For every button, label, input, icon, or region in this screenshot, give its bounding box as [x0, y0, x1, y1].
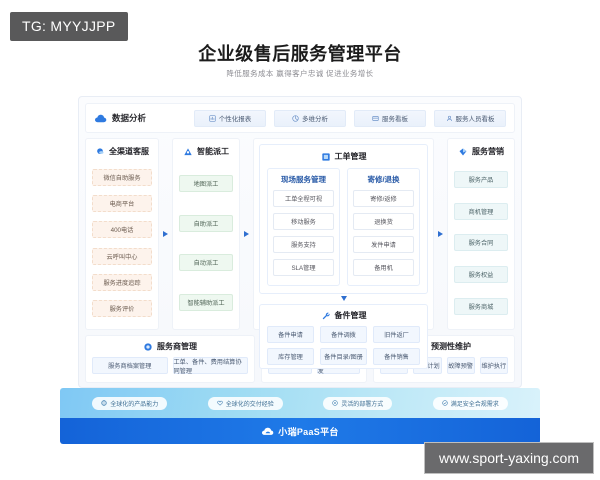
work-order-panel: 工单管理 现场服务管理 工单全程可视 移动服务 服务支持 SLA管理 寄修/退换 — [259, 144, 428, 294]
list-item[interactable]: 退换货 — [353, 213, 414, 230]
page-title: 企业级售后服务管理平台 — [0, 40, 600, 66]
column-items: 地图派工 自助派工 自动派工 智能辅助派工 — [179, 164, 233, 322]
capability-chip-label: 满足安全合规需求 — [451, 399, 499, 408]
list-item[interactable]: 服务进度追踪 — [92, 274, 152, 291]
column-work-order: 工单管理 现场服务管理 工单全程可视 移动服务 服务支持 SLA管理 寄修/退换 — [253, 138, 434, 330]
analytics-item-multidim[interactable]: 多维分析 — [274, 110, 346, 127]
board-icon — [372, 115, 379, 122]
analytics-item-label: 服务人员看板 — [456, 113, 495, 123]
flow-arrow-1 — [159, 138, 172, 330]
capability-chip-label: 全球化的产品能力 — [110, 399, 158, 408]
capability-chip-global-delivery[interactable]: 全球化的交付经验 — [208, 397, 283, 410]
list-item[interactable]: SLA管理 — [273, 259, 334, 276]
list-item[interactable]: 旧件返厂 — [373, 326, 420, 343]
headset-icon — [95, 147, 105, 157]
cloud-icon — [94, 113, 107, 124]
column-omni-channel: 全渠道客服 微信自助服务 电商平台 400电话 云呼叫中心 服务进度追踪 服务评… — [85, 138, 159, 330]
arrow-right-icon — [244, 231, 249, 237]
column-items: 微信自助服务 电商平台 400电话 云呼叫中心 服务进度追踪 服务评价 — [92, 164, 152, 322]
list-item[interactable]: 地图派工 — [179, 175, 233, 192]
parts-items: 备件申请 备件调拨 旧件返厂 库存管理 备件目录/图册 备件销售 — [267, 326, 420, 365]
list-item[interactable]: 服务产品 — [454, 171, 508, 188]
delivery-icon — [217, 400, 223, 406]
panel-header: 服务商管理 — [92, 341, 248, 352]
shield-check-icon — [442, 400, 448, 406]
analytics-item-service-board[interactable]: 服务看板 — [354, 110, 426, 127]
list-item[interactable]: 400电话 — [92, 221, 152, 238]
panel-header: 工单管理 — [267, 151, 420, 162]
panel-label: 服务商管理 — [157, 341, 197, 352]
column-service-marketing: 服务营销 服务产品 商机管理 服务合同 服务权益 服务商城 — [447, 138, 515, 330]
list-item[interactable]: 电商平台 — [92, 195, 152, 212]
arrow-down-icon — [341, 296, 347, 301]
column-label: 智能派工 — [197, 146, 229, 157]
analytics-item-report[interactable]: 个性化报表 — [194, 110, 266, 127]
workorder-icon — [321, 152, 331, 162]
list-item[interactable]: 维护执行 — [480, 357, 508, 374]
work-order-groups: 现场服务管理 工单全程可视 移动服务 服务支持 SLA管理 寄修/退换 寄修/返… — [267, 168, 420, 286]
analytics-bar: 数据分析 个性化报表 多维分析 服务看板 — [85, 103, 515, 133]
analytics-title: 数据分析 — [94, 112, 186, 124]
analytics-item-staff-board[interactable]: 服务人员看板 — [434, 110, 506, 127]
list-item[interactable]: 自助派工 — [179, 215, 233, 232]
page-subtitle: 降低服务成本 赢得客户忠诚 促进业务增长 — [0, 68, 600, 79]
list-item[interactable]: 工单全程可视 — [273, 190, 334, 207]
vendor-icon — [143, 342, 153, 352]
panel-header: 备件管理 — [267, 310, 420, 321]
list-item[interactable]: 服务评价 — [92, 300, 152, 317]
group-title: 现场服务管理 — [273, 174, 334, 185]
list-item[interactable]: 服务商档案管理 — [92, 357, 168, 374]
flow-arrow-3 — [434, 138, 447, 330]
column-header: 智能派工 — [179, 146, 233, 157]
list-item[interactable]: 备件申请 — [267, 326, 314, 343]
analytics-label: 数据分析 — [112, 112, 146, 124]
tg-tag-watermark: TG: MYYJJPP — [10, 12, 128, 41]
capability-chip-label: 全球化的交付经验 — [226, 399, 274, 408]
list-item[interactable]: 发件申请 — [353, 236, 414, 253]
marketing-icon — [458, 147, 468, 157]
panel-items: 服务商档案管理 工单、备件、费用结算协同管理 — [92, 357, 248, 374]
column-smart-dispatch: 智能派工 地图派工 自助派工 自动派工 智能辅助派工 — [172, 138, 240, 330]
middle-region: 全渠道客服 微信自助服务 电商平台 400电话 云呼叫中心 服务进度追踪 服务评… — [85, 138, 515, 330]
list-item[interactable]: 工单、备件、费用结算协同管理 — [173, 357, 249, 374]
pie-icon — [292, 115, 299, 122]
panel-label: 备件管理 — [335, 310, 367, 321]
capability-chip-flexible-deploy[interactable]: 灵活的部署方式 — [323, 397, 392, 410]
report-icon — [209, 115, 216, 122]
column-header: 全渠道客服 — [92, 146, 152, 157]
analytics-item-label: 个性化报表 — [219, 113, 252, 123]
list-item[interactable]: 微信自助服务 — [92, 169, 152, 186]
wrench-icon — [321, 311, 331, 321]
platform-base: 全球化的产品能力 全球化的交付经验 灵活的部署方式 满足安全合规需求 — [60, 388, 540, 444]
dispatch-icon — [183, 147, 193, 157]
list-item[interactable]: 移动服务 — [273, 213, 334, 230]
globe-icon — [101, 400, 107, 406]
cloud-platform-icon — [261, 426, 274, 437]
arrow-right-icon — [163, 231, 168, 237]
list-item[interactable]: 商机管理 — [454, 203, 508, 220]
capability-chip-global-product[interactable]: 全球化的产品能力 — [92, 397, 167, 410]
list-item[interactable]: 服务合同 — [454, 234, 508, 251]
list-item[interactable]: 自动派工 — [179, 254, 233, 271]
deploy-icon — [332, 400, 338, 406]
list-item[interactable]: 寄修/返修 — [353, 190, 414, 207]
list-item[interactable]: 服务支持 — [273, 236, 334, 253]
arrow-right-icon — [438, 231, 443, 237]
infographic-root: TG: MYYJJPP 企业级售后服务管理平台 降低服务成本 赢得客户忠诚 促进… — [0, 0, 600, 480]
parts-management-panel: 备件管理 备件申请 备件调拨 旧件返厂 库存管理 备件目录/图册 备件销售 — [259, 304, 428, 369]
capability-chip-security-compliance[interactable]: 满足安全合规需求 — [433, 397, 508, 410]
list-item[interactable]: 库存管理 — [267, 348, 314, 365]
flow-arrow-2 — [240, 138, 253, 330]
panel-label: 预测性维护 — [431, 341, 471, 352]
panel-label: 工单管理 — [335, 151, 367, 162]
list-item[interactable]: 智能辅助派工 — [179, 294, 233, 311]
column-items: 服务产品 商机管理 服务合同 服务权益 服务商城 — [454, 164, 508, 322]
panel-vendor-management: 服务商管理 服务商档案管理 工单、备件、费用结算协同管理 — [85, 335, 255, 383]
list-item[interactable]: 服务商城 — [454, 298, 508, 315]
platform-capability-chips: 全球化的产品能力 全球化的交付经验 灵活的部署方式 满足安全合规需求 — [60, 388, 540, 418]
list-item[interactable]: 备用机 — [353, 259, 414, 276]
flow-arrow-down — [259, 296, 428, 301]
list-item[interactable]: 故障预警 — [447, 357, 475, 374]
capability-chip-label: 灵活的部署方式 — [341, 399, 383, 408]
group-repair-return: 寄修/退换 寄修/返修 退换货 发件申请 备用机 — [347, 168, 420, 286]
list-item[interactable]: 备件销售 — [373, 348, 420, 365]
column-label: 全渠道客服 — [109, 146, 149, 157]
column-header: 服务营销 — [454, 146, 508, 157]
analytics-item-label: 多维分析 — [302, 113, 328, 123]
architecture-board: 数据分析 个性化报表 多维分析 服务看板 — [78, 96, 522, 388]
list-item[interactable]: 备件目录/图册 — [320, 348, 367, 365]
platform-name-label: 小瑞PaaS平台 — [278, 425, 338, 438]
group-title: 寄修/退换 — [353, 174, 414, 185]
user-board-icon — [446, 115, 453, 122]
site-watermark: www.sport-yaxing.com — [424, 442, 594, 474]
platform-name-bar: 小瑞PaaS平台 — [60, 418, 540, 444]
analytics-item-label: 服务看板 — [382, 113, 408, 123]
group-onsite-service: 现场服务管理 工单全程可视 移动服务 服务支持 SLA管理 — [267, 168, 340, 286]
list-item[interactable]: 备件调拨 — [320, 326, 367, 343]
column-label: 服务营销 — [472, 146, 504, 157]
list-item[interactable]: 云呼叫中心 — [92, 248, 152, 265]
list-item[interactable]: 服务权益 — [454, 266, 508, 283]
